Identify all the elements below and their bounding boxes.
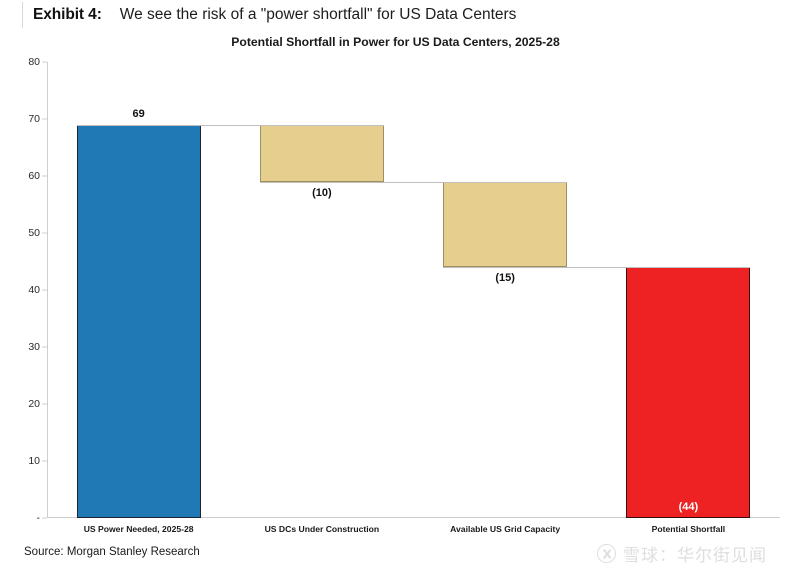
bar-value-label: 69 (133, 108, 145, 120)
bar-value-label: (15) (495, 272, 515, 284)
chart-bar[interactable] (77, 125, 201, 518)
plot-area: 69(10)(15)(44) (47, 62, 780, 518)
exhibit-header: Exhibit 4: We see the risk of a "power s… (0, 0, 791, 30)
xueqiu-logo-icon (597, 544, 616, 563)
chart-bar[interactable] (260, 125, 384, 182)
waterfall-connector-line (443, 267, 750, 268)
y-axis-tick-label: 60 (28, 170, 40, 182)
watermark-label: 雪球：华尔街见闻 (623, 541, 767, 566)
y-axis-tick-label: 70 (28, 113, 40, 125)
y-axis-tick-label: 50 (28, 227, 40, 239)
bar-value-label: (10) (312, 187, 332, 199)
waterfall-connector-line (260, 182, 567, 183)
waterfall-chart: -1020304050607080 69(10)(15)(44) (0, 56, 791, 518)
x-axis-category-label: Potential Shortfall (652, 524, 726, 534)
y-axis-tick-label: - (37, 512, 41, 524)
chart-bar[interactable] (443, 182, 567, 268)
source-note: Source: Morgan Stanley Research (24, 546, 200, 558)
page-title: We see the risk of a "power shortfall" f… (120, 6, 517, 24)
x-axis-category-label: Available US Grid Capacity (450, 524, 560, 534)
y-axis-tick-label: 40 (28, 284, 40, 296)
bar-value-label: (44) (679, 501, 699, 513)
y-axis-tick-label: 30 (28, 341, 40, 353)
x-axis-category-label: US DCs Under Construction (265, 524, 380, 534)
x-axis-category-label: US Power Needed, 2025-28 (84, 524, 194, 534)
header-accent-rule (22, 2, 23, 28)
exhibit-number-label: Exhibit 4: (33, 6, 102, 24)
watermark: 雪球：华尔街见闻 (597, 541, 767, 566)
y-axis-tick-label: 80 (28, 56, 40, 68)
chart-subtitle: Potential Shortfall in Power for US Data… (0, 35, 791, 49)
y-axis-tick-label: 20 (28, 398, 40, 410)
chart-bar[interactable] (626, 267, 750, 518)
waterfall-connector-line (77, 125, 384, 126)
y-axis-tick-label: 10 (28, 455, 40, 467)
